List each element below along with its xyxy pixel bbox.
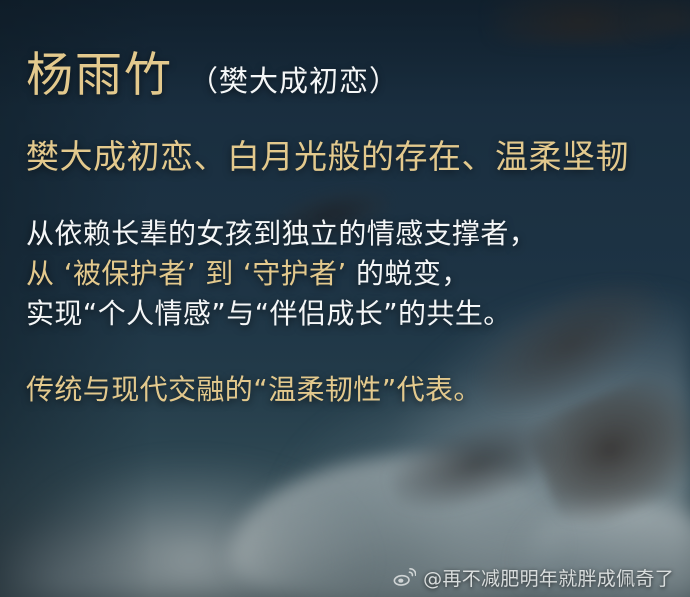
character-name: 杨雨竹 (26, 36, 173, 105)
watermark: @再不减肥明年就胖成佩奇了 (391, 564, 674, 591)
description-line-1: 从依赖长辈的女孩到独立的情感支撑者， (26, 214, 642, 254)
description-line-2-rest: 的蜕变， (347, 257, 470, 290)
character-subtitle: 樊大成初恋、白月光般的存在、温柔坚韧 (26, 135, 642, 180)
title-row: 杨雨竹 （樊大成初恋） (26, 0, 664, 105)
image-card: 杨雨竹 （樊大成初恋） 樊大成初恋、白月光般的存在、温柔坚韧 从依赖长辈的女孩到… (0, 0, 690, 597)
content-area: 杨雨竹 （樊大成初恋） 樊大成初恋、白月光般的存在、温柔坚韧 从依赖长辈的女孩到… (0, 0, 690, 409)
description-line-3: 实现“个人情感”与“伴侣成长”的共生。 (26, 294, 642, 334)
watermark-handle: @再不减肥明年就胖成佩奇了 (423, 564, 674, 591)
character-description: 从依赖长辈的女孩到独立的情感支撑者， 从 ‘被保护者’ 到 ‘守护者’ 的蜕变，… (26, 214, 642, 334)
description-line-2-highlight: 从 ‘被保护者’ 到 ‘守护者’ (26, 257, 347, 290)
weibo-icon (391, 567, 416, 589)
character-tagline: 传统与现代交融的“温柔韧性”代表。 (26, 370, 664, 409)
description-line-2: 从 ‘被保护者’ 到 ‘守护者’ 的蜕变， (26, 254, 642, 294)
character-name-annotation: （樊大成初恋） (189, 58, 399, 100)
